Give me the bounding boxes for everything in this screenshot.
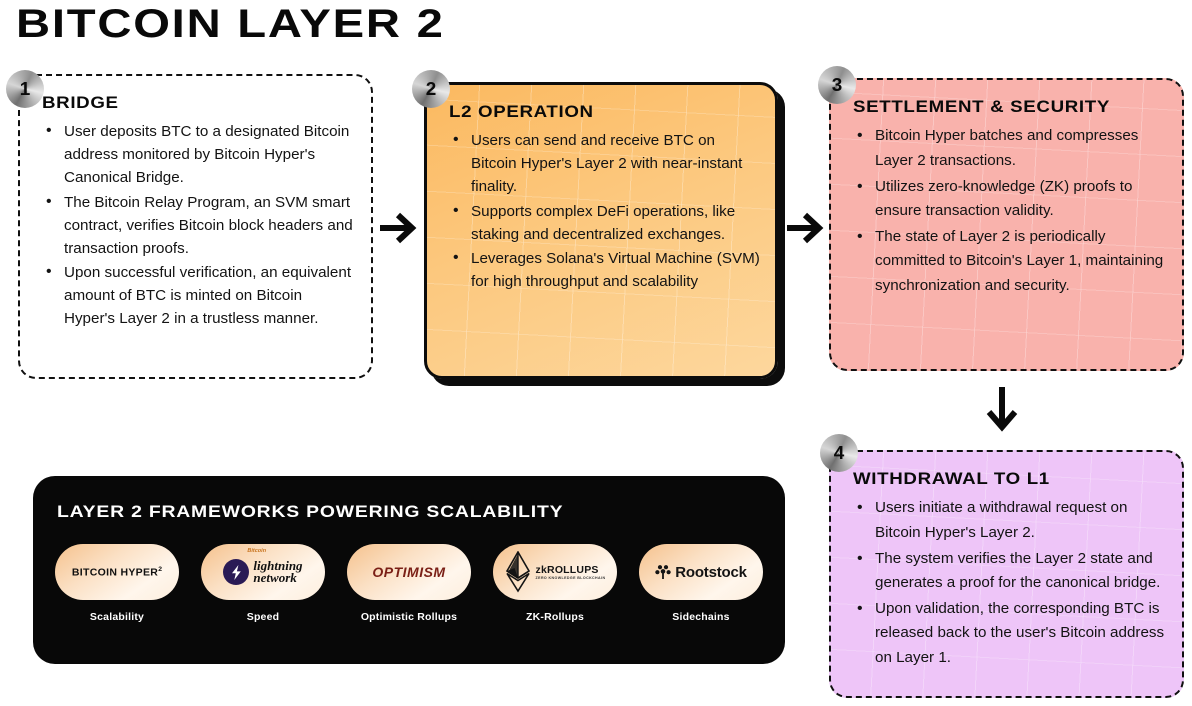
lightning-network-logo-toptext: Bitcoin [247,548,266,554]
page-title: BITCOIN LAYER 2 [16,2,445,47]
infographic-root: BITCOIN LAYER 2 BRIDGE User deposits BTC… [0,0,1192,706]
step-badge-number: 1 [20,79,31,100]
step-badge-4: 4 [820,434,858,472]
list-item: Leverages Solana's Virtual Machine (SVM)… [449,247,761,293]
step-badge-number: 2 [426,79,437,100]
step-card-bridge: BRIDGE User deposits BTC to a designated… [18,74,373,379]
step-badge-number: 3 [832,75,843,96]
framework-caption: Scalability [90,611,144,623]
optimism-logo: OPTIMISM [347,544,471,600]
framework-item-speed[interactable]: Bitcoin lightningnetwork Speed [193,544,333,623]
step-card-title: BRIDGE [42,92,389,113]
rootstock-logo: Rootstock [639,544,763,600]
step-bullet-list: Users can send and receive BTC on Bitcoi… [449,129,761,293]
framework-item-scalability[interactable]: BITCOIN HYPER2 Scalability [47,544,187,623]
step-bullet-list: Bitcoin Hyper batches and compresses Lay… [853,124,1168,298]
rootstock-logo-text: Rootstock [675,564,747,581]
framework-item-optimistic-rollups[interactable]: OPTIMISM Optimistic Rollups [339,544,479,623]
framework-caption: Sidechains [672,611,729,623]
step-badge-1: 1 [6,70,44,108]
zkrollups-logo: zkROLLUPS ZERO KNOWLEDGE BLOCKCHAIN [493,544,617,600]
list-item: Utilizes zero-knowledge (ZK) proofs to e… [853,175,1168,224]
list-item: Supports complex DeFi operations, like s… [449,200,761,246]
list-item: The Bitcoin Relay Program, an SVM smart … [42,191,357,260]
step-card-title: SETTLEMENT & SECURITY [853,96,1192,117]
step-card-l2-operation: L2 OPERATION Users can send and receive … [424,82,778,379]
arrow-right-icon [785,208,829,248]
ethereum-diamond-icon [505,551,531,593]
lightning-bolt-icon [223,559,249,585]
list-item: Upon validation, the corresponding BTC i… [853,597,1168,671]
step-bullet-list: Users initiate a withdrawal request on B… [853,496,1168,670]
framework-item-zk-rollups[interactable]: zkROLLUPS ZERO KNOWLEDGE BLOCKCHAIN ZK-R… [485,544,625,623]
lightning-network-logo: Bitcoin lightningnetwork [201,544,325,600]
step-card-title: WITHDRAWAL TO L1 [853,468,1192,489]
step-card-title: L2 OPERATION [449,101,792,122]
step-bullet-list: User deposits BTC to a designated Bitcoi… [42,120,357,330]
list-item: User deposits BTC to a designated Bitcoi… [42,120,357,189]
list-item: The state of Layer 2 is periodically com… [853,225,1168,299]
list-item: Users initiate a withdrawal request on B… [853,496,1168,545]
framework-item-sidechains[interactable]: Rootstock Sidechains [631,544,771,623]
bolt-glyph [229,564,244,581]
bitcoin-hyper-logo-superscript: 2 [158,566,162,573]
step-card-withdrawal-to-l1: WITHDRAWAL TO L1 Users initiate a withdr… [829,450,1184,698]
bitcoin-hyper-logo: BITCOIN HYPER2 [55,544,179,600]
list-item: The system verifies the Layer 2 state an… [853,547,1168,596]
zkrollups-logo-text: zkROLLUPS [536,564,606,576]
rootstock-mark-icon [655,564,671,580]
step-badge-3: 3 [818,66,856,104]
framework-caption: Speed [247,611,280,623]
zkrollups-logo-subtext: ZERO KNOWLEDGE BLOCKCHAIN [536,576,606,580]
framework-caption: Optimistic Rollups [361,611,457,623]
list-item: Users can send and receive BTC on Bitcoi… [449,129,761,198]
step-badge-number: 4 [834,443,845,464]
step-badge-2: 2 [412,70,450,108]
lightning-network-logo-text: lightningnetwork [253,560,302,585]
arrow-down-icon [982,385,1022,437]
arrow-right-icon [378,208,422,248]
step-card-settlement-security: SETTLEMENT & SECURITY Bitcoin Hyper batc… [829,78,1184,371]
framework-caption: ZK-Rollups [526,611,584,623]
list-item: Upon successful verification, an equival… [42,261,357,330]
frameworks-panel: LAYER 2 FRAMEWORKS POWERING SCALABILITY … [33,476,785,664]
frameworks-heading: LAYER 2 FRAMEWORKS POWERING SCALABILITY [57,502,563,522]
bitcoin-hyper-logo-text: BITCOIN HYPER [72,567,158,578]
list-item: Bitcoin Hyper batches and compresses Lay… [853,124,1168,173]
frameworks-logo-row: BITCOIN HYPER2 Scalability Bitcoin [47,544,771,623]
optimism-logo-text: OPTIMISM [372,564,445,580]
